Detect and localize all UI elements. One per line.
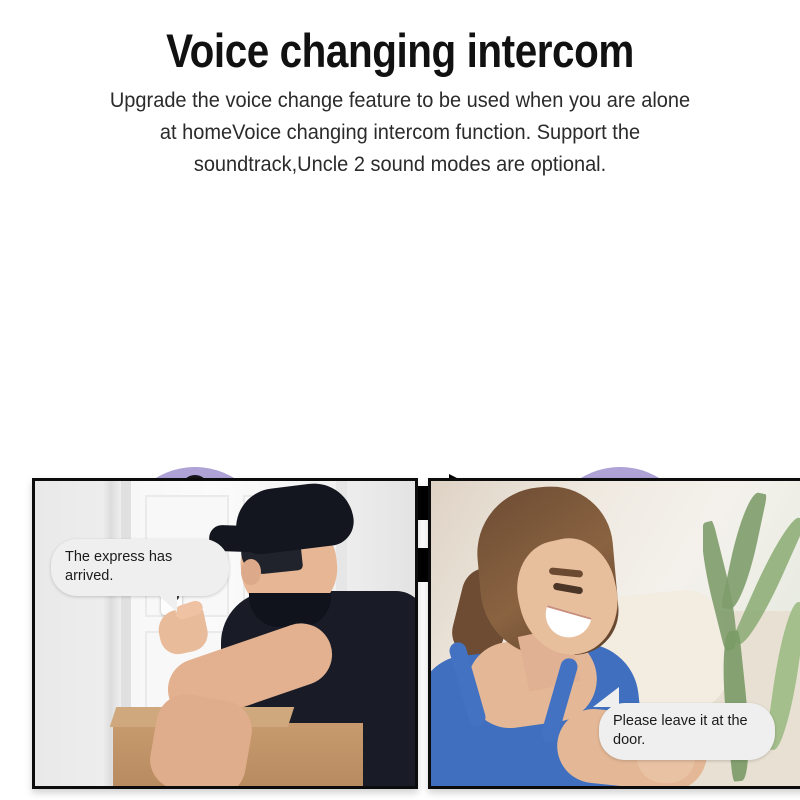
subtitle-line-2: at homeVoice changing intercom function.… [47,117,754,149]
speech-bubble-tail [155,592,177,612]
subtitle-line-3: soundtrack,Uncle 2 sound modes are optio… [47,149,754,181]
subtitle-line-1: Upgrade the voice change feature to be u… [47,85,754,117]
promo-page: Voice changing intercom Upgrade the voic… [0,0,800,800]
header: Voice changing intercom Upgrade the voic… [0,0,800,181]
delivery-scene [35,481,415,786]
scene-photo-woman: Please leave it at the door. [428,478,800,789]
speech-bubble-woman-text: Please leave it at the door. [613,713,748,748]
voice-mode-row: Girl's voice [0,199,800,429]
speech-bubble-delivery: The express has arrived. [51,539,229,596]
scene-photos: The express has arrived. [0,478,800,790]
page-subtitle: Upgrade the voice change feature to be u… [47,85,754,180]
page-title: Voice changing intercom [56,26,744,75]
delivery-man-ear [241,559,261,585]
speech-bubble-woman: Please leave it at the door. [599,703,775,760]
scene-photo-delivery: The express has arrived. [32,478,418,789]
speech-bubble-delivery-text: The express has arrived. [65,549,172,584]
speech-bubble-tail [593,687,619,707]
